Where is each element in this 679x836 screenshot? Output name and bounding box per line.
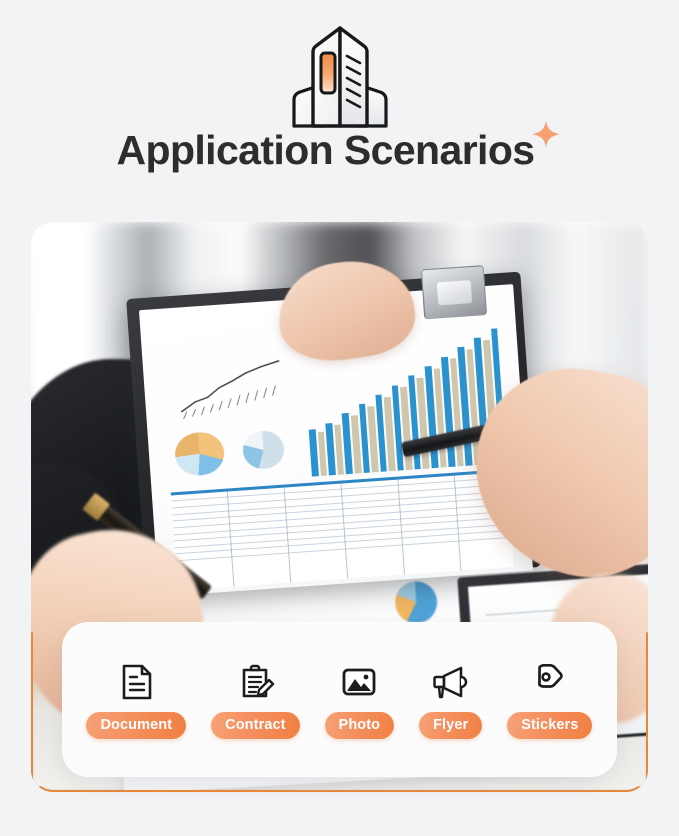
- category-label-photo[interactable]: Photo: [325, 712, 395, 739]
- header: Application Scenarios: [0, 0, 679, 210]
- document-icon: [115, 661, 157, 703]
- title-row: Application Scenarios: [0, 128, 679, 173]
- category-card: Document Con: [62, 622, 617, 777]
- application-scenarios-page: Application Scenarios: [0, 0, 679, 836]
- category-item-contract[interactable]: Contract: [211, 661, 299, 739]
- price-tag-icon: [529, 661, 571, 703]
- report-pie-chart-2: [241, 429, 285, 469]
- category-item-document[interactable]: Document: [86, 661, 186, 739]
- page-title: Application Scenarios: [116, 128, 534, 173]
- paper-pie-chart-1: [395, 580, 439, 624]
- table-column-rules: [170, 471, 513, 589]
- clipboard-pencil-icon: [234, 661, 276, 703]
- category-label-document[interactable]: Document: [86, 712, 186, 739]
- category-label-contract[interactable]: Contract: [211, 712, 299, 739]
- megaphone-icon: [430, 661, 472, 703]
- report-pie-chart-1: [174, 431, 226, 477]
- category-item-stickers[interactable]: Stickers: [507, 661, 592, 739]
- category-label-flyer[interactable]: Flyer: [419, 712, 482, 739]
- category-label-stickers[interactable]: Stickers: [507, 712, 592, 739]
- report-line-chart: [165, 351, 297, 423]
- category-item-photo[interactable]: Photo: [325, 661, 395, 739]
- report-data-table: [170, 468, 514, 589]
- category-list: Document Con: [62, 622, 617, 777]
- category-item-flyer[interactable]: Flyer: [419, 661, 482, 739]
- image-icon: [338, 661, 380, 703]
- building-icon: [280, 22, 400, 132]
- sparkle-icon: [529, 118, 563, 152]
- clipboard-metal-clip: [421, 265, 488, 320]
